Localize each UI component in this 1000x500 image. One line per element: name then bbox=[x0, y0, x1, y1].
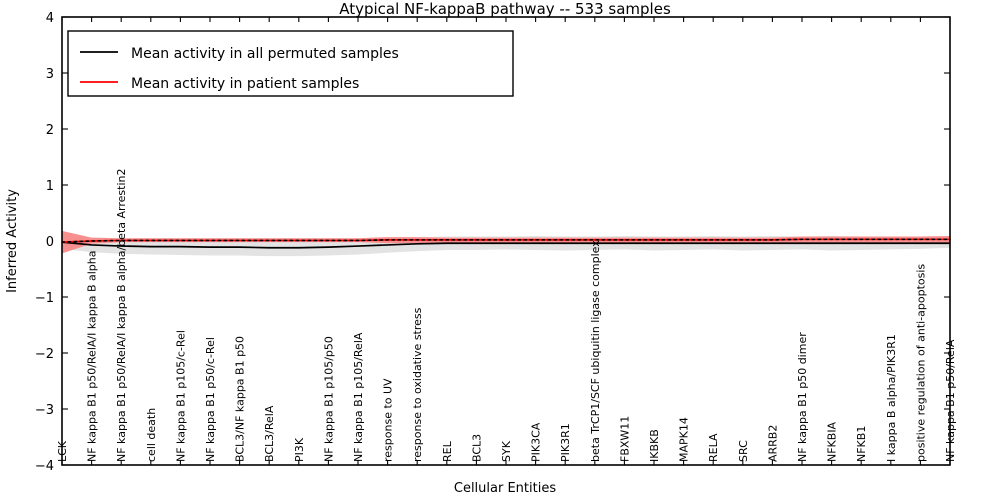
x-tick-label: NF kappa B1 p105/RelA bbox=[352, 332, 365, 462]
x-tick-label: IKBKB bbox=[648, 429, 661, 462]
x-tick-label: positive regulation of anti-apoptosis bbox=[914, 264, 927, 462]
x-tick-label: PIK3R1 bbox=[559, 423, 572, 462]
legend-label: Mean activity in patient samples bbox=[131, 76, 359, 92]
x-tick-label: MAPK14 bbox=[678, 417, 691, 462]
x-tick-label: BCL3 bbox=[470, 434, 483, 462]
x-tick-label: SRC bbox=[737, 440, 750, 462]
x-tick-label: NF kappa B1 p50/RelA/I kappa B alpha/bet… bbox=[115, 169, 128, 462]
x-axis-label: Cellular Entities bbox=[454, 481, 556, 496]
x-tick-label: NFKBIA bbox=[826, 421, 839, 462]
x-tick-label: cell death bbox=[145, 408, 158, 462]
x-tick-label: I kappa B alpha/PIK3R1 bbox=[885, 334, 898, 462]
x-tick-label: response to UV bbox=[382, 378, 395, 462]
x-tick-label: NF kappa B1 p105/p50 bbox=[322, 336, 335, 462]
x-tick-label: BCL3/NF kappa B1 p50 bbox=[234, 336, 247, 462]
y-tick-label: 1 bbox=[46, 179, 54, 194]
x-tick-label: NF kappa B1 p50 dimer bbox=[796, 332, 809, 462]
y-tick-label: 2 bbox=[46, 123, 54, 138]
y-axis-label: Inferred Activity bbox=[5, 189, 20, 293]
y-tick-label: −1 bbox=[35, 291, 54, 306]
chart-figure: Atypical NF-kappaB pathway -- 533 sample… bbox=[0, 0, 1000, 500]
x-tick-label: NFKB1 bbox=[855, 426, 868, 462]
x-tick-label: beta TrCP1/SCF ubiquitin ligase complex bbox=[589, 240, 602, 462]
x-tick-label: NF kappa B1 p105/c-Rel bbox=[174, 330, 187, 462]
legend-label: Mean activity in all permuted samples bbox=[131, 46, 399, 62]
x-tick-label: ARRB2 bbox=[766, 425, 779, 462]
chart-title: Atypical NF-kappaB pathway -- 533 sample… bbox=[339, 0, 671, 18]
chart-canvas: Atypical NF-kappaB pathway -- 533 sample… bbox=[0, 0, 1000, 500]
y-tick-label: 3 bbox=[46, 67, 54, 82]
x-tick-label: response to oxidative stress bbox=[411, 307, 424, 462]
x-tick-label: BCL3/RelA bbox=[263, 405, 276, 462]
x-tick-label: NF kappa B1 p50/RelA/I kappa B alpha bbox=[86, 251, 99, 463]
x-tick-label: FBXW11 bbox=[618, 416, 631, 462]
x-tick-label: RELA bbox=[707, 433, 720, 462]
x-tick-label: PI3K bbox=[293, 437, 306, 462]
y-tick-label: 0 bbox=[46, 235, 54, 250]
y-tick-label: −3 bbox=[35, 403, 54, 418]
x-tick-label: SYK bbox=[500, 440, 513, 462]
x-tick-label: PIK3CA bbox=[530, 422, 543, 462]
y-tick-label: 4 bbox=[46, 11, 54, 26]
y-tick-label: −4 bbox=[35, 459, 54, 474]
chart-legend: Mean activity in all permuted samplesMea… bbox=[68, 31, 513, 96]
x-tick-label: NF kappa B1 p50/c-Rel bbox=[204, 337, 217, 462]
x-tick-label: REL bbox=[441, 440, 454, 462]
y-tick-label: −2 bbox=[35, 347, 54, 362]
